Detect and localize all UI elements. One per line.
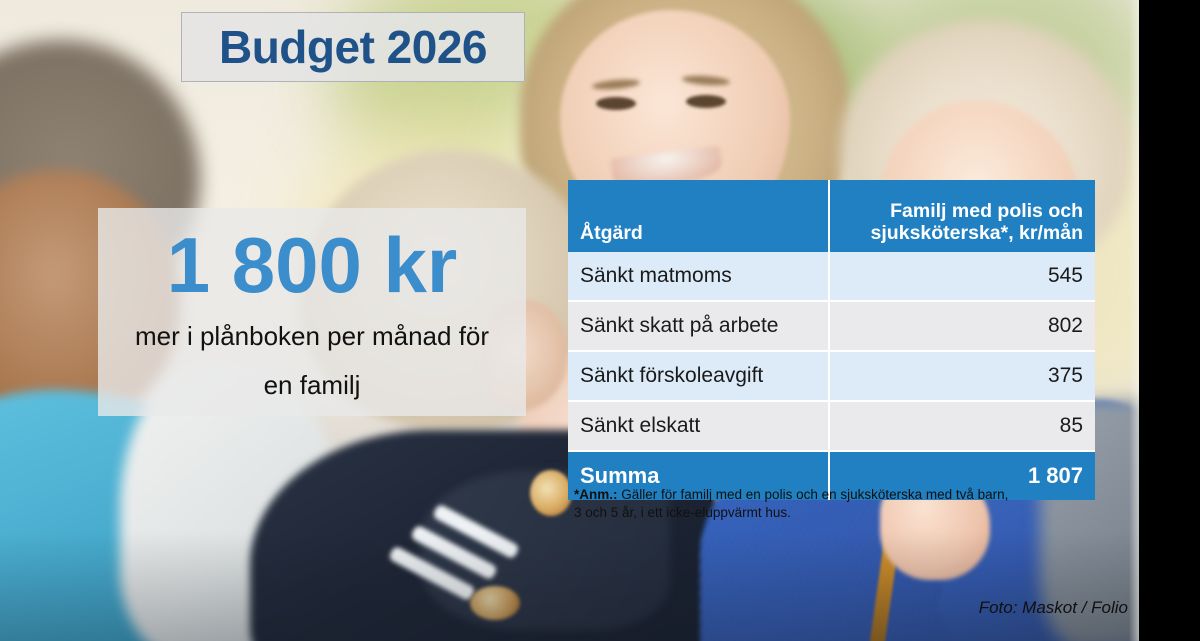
photo-bottom-shadow [0,531,1139,641]
table-head: Åtgärd Familj med polis och sjukskötersk… [568,180,1095,252]
table-row: Sänkt matmoms545 [568,252,1095,302]
budget-table-container: Åtgärd Familj med polis och sjukskötersk… [568,180,1095,500]
table-header-row: Åtgärd Familj med polis och sjukskötersk… [568,180,1095,252]
photo-credit: Foto: Maskot / Folio [0,598,1128,618]
callout-line-1: mer i plånboken per månad för [135,321,489,352]
table-row: Sänkt förskoleavgift375 [568,352,1095,402]
table-cell-amount: 85 [830,402,1095,452]
table-footnote: *Anm.: Gäller för familj med en polis oc… [574,486,1074,522]
footnote-line-2: 3 och 5 år, i ett icke-eluppvärmt hus. [574,505,791,520]
table-cell-amount: 802 [830,302,1095,352]
table-row: Sänkt skatt på arbete802 [568,302,1095,352]
table-cell-measure: Sänkt matmoms [568,252,830,302]
page-title: Budget 2026 [219,24,487,70]
page-title-plate: Budget 2026 [181,12,525,82]
column-header-measure: Åtgärd [568,180,830,252]
table-cell-measure: Sänkt elskatt [568,402,830,452]
right-black-bar [1139,0,1200,641]
budget-table: Åtgärd Familj med polis och sjukskötersk… [568,180,1095,500]
table-cell-amount: 545 [830,252,1095,302]
photo-right-edge-highlight [1129,0,1139,641]
table-row: Sänkt elskatt85 [568,402,1095,452]
snack-piece-1 [530,470,572,516]
woman-eye-left [596,97,636,110]
table-cell-amount: 375 [830,352,1095,402]
table-body: Sänkt matmoms545Sänkt skatt på arbete802… [568,252,1095,500]
footnote-line-1: Gäller för familj med en polis och en sj… [618,487,1009,502]
table-cell-measure: Sänkt skatt på arbete [568,302,830,352]
infographic-canvas: Budget 2026 1 800 kr mer i plånboken per… [0,0,1200,641]
footnote-prefix: *Anm.: [574,487,618,502]
callout-amount: 1 800 kr [167,222,458,309]
woman-eye-right [686,95,726,108]
headline-callout: 1 800 kr mer i plånboken per månad för e… [98,208,526,416]
table-cell-measure: Sänkt förskoleavgift [568,352,830,402]
column-header-amount-line2: sjuksköterska*, kr/mån [871,222,1083,244]
column-header-amount-line1: Familj med polis och [890,200,1083,222]
column-header-amount: Familj med polis och sjuksköterska*, kr/… [830,180,1095,252]
callout-line-2: en familj [264,370,361,401]
